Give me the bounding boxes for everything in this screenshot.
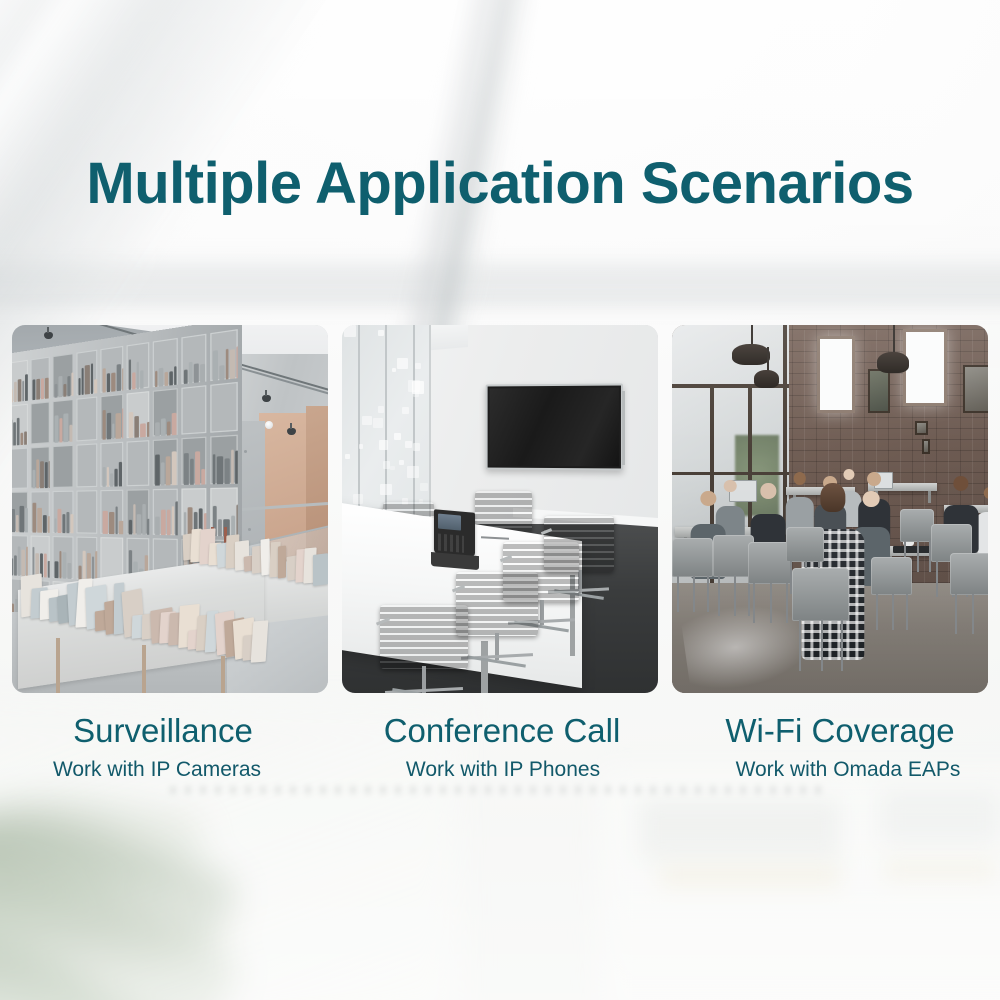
book-spine — [236, 505, 237, 537]
book-spine — [226, 349, 229, 380]
caption-surveillance: Surveillance Work with IP Cameras — [12, 712, 328, 802]
book-spine — [26, 547, 27, 577]
scenario-image-wifi-coverage[interactable] — [672, 325, 988, 693]
bookshelf-cell — [126, 490, 149, 536]
table-leg — [142, 645, 146, 693]
bookshelf-cell — [12, 536, 27, 577]
frosted-glass-square — [359, 444, 364, 449]
book-row — [54, 410, 70, 443]
book-spine — [169, 372, 173, 387]
book-spine — [78, 379, 80, 396]
book-spine — [59, 418, 63, 443]
ip-desk-phone — [434, 509, 475, 557]
book-spine — [114, 469, 117, 488]
book-spine — [19, 507, 23, 533]
wall-mounted-tv — [486, 383, 623, 471]
book-row — [183, 346, 204, 384]
bookshelf-cell — [153, 339, 177, 388]
bookshelf-cell — [12, 448, 27, 489]
book-row — [102, 453, 120, 487]
frosted-glass-square — [373, 418, 383, 428]
book-spine — [43, 554, 46, 578]
frosted-glass-square — [344, 325, 356, 337]
book-spine — [160, 418, 165, 437]
bookshelf-cell — [100, 490, 122, 535]
bookshelf-cell — [52, 354, 72, 399]
book-spine — [86, 553, 90, 581]
book-spine — [142, 505, 145, 536]
person-head — [761, 483, 776, 498]
book-row — [12, 371, 25, 404]
book-spine — [54, 416, 58, 443]
book-row — [32, 502, 48, 534]
book-spine — [45, 378, 49, 399]
phone-keypad — [438, 533, 463, 552]
book-spine — [122, 408, 123, 439]
person-head — [821, 483, 846, 512]
book-spine — [82, 551, 85, 581]
scenario-card-list — [12, 325, 988, 693]
frosted-glass-square — [392, 368, 396, 372]
book-spine — [110, 373, 115, 393]
caption-conference-call: Conference Call Work with IP Phones — [342, 712, 658, 802]
scenario-caption-list: Surveillance Work with IP Cameras Confer… — [12, 712, 988, 802]
book-spine — [59, 551, 61, 579]
book-spine — [190, 459, 194, 486]
book-spine — [119, 462, 122, 487]
frosted-glass-square — [407, 466, 419, 478]
book-spine — [71, 373, 73, 397]
caption-subtitle: Work with IP Cameras — [0, 754, 315, 786]
bookshelf-cell — [181, 437, 207, 485]
caption-title: Surveillance — [5, 712, 321, 751]
book-row — [78, 548, 95, 582]
book-spine — [54, 518, 56, 533]
book-spine — [15, 516, 18, 533]
chair-back — [871, 557, 912, 595]
book-spine — [115, 507, 118, 535]
book-spine — [161, 463, 164, 486]
book-spine — [45, 462, 48, 489]
book-spine — [18, 547, 21, 577]
book-spine — [171, 413, 177, 436]
bookshelf-cell — [52, 537, 72, 580]
book-spine — [42, 515, 46, 533]
book-spine — [165, 457, 170, 486]
book-spine — [128, 360, 131, 390]
bookshelf-cell — [181, 386, 207, 435]
book-spine — [84, 366, 89, 396]
bookshelf-cell — [12, 405, 27, 447]
chair-leg — [936, 561, 938, 598]
book-row — [54, 364, 70, 398]
book-row — [155, 450, 175, 486]
caption-title: Wi-Fi Coverage — [682, 712, 998, 751]
frosted-glass-square — [379, 440, 388, 449]
scenario-image-surveillance[interactable] — [12, 325, 328, 693]
book-spine — [66, 513, 69, 534]
table-leg — [221, 656, 225, 693]
chair-leg — [753, 583, 755, 623]
chair-back — [792, 568, 849, 622]
book-spine — [22, 550, 25, 577]
conference-room-scene — [342, 325, 658, 693]
cafe-metal-chair — [950, 553, 988, 634]
book-spine — [102, 369, 105, 394]
book-spine — [183, 512, 186, 536]
book-spine — [217, 456, 223, 485]
book-spine — [166, 510, 170, 536]
book-spine — [62, 515, 65, 534]
book-spine — [107, 374, 110, 393]
book-row — [128, 403, 147, 439]
book-row — [213, 447, 235, 485]
book-spine — [36, 379, 40, 400]
book-spine — [183, 370, 187, 385]
book-spine — [63, 384, 66, 398]
frosted-glass-square — [402, 407, 409, 414]
book-spine — [25, 374, 27, 402]
bookshelf-cell — [210, 330, 237, 382]
bookshelf-cell — [30, 402, 50, 445]
book-spine — [167, 421, 170, 436]
book-spine — [183, 454, 188, 486]
bookshelf-cell — [76, 537, 97, 581]
bookshelf-cell — [153, 439, 177, 486]
book-spine — [106, 413, 111, 440]
book-spine — [174, 367, 176, 386]
book-spine — [25, 509, 27, 533]
book-spine — [69, 425, 72, 443]
track-spotlight-icon — [44, 332, 53, 339]
frosted-glass-square — [408, 380, 420, 392]
frosted-glass-square — [383, 461, 390, 468]
book-spine — [17, 418, 20, 446]
book-spine — [195, 452, 200, 486]
book-row — [12, 545, 25, 576]
displayed-book — [313, 553, 328, 586]
chair-leg — [841, 619, 843, 671]
person-head — [724, 480, 737, 493]
book-spine — [155, 371, 158, 388]
book-spine — [109, 512, 114, 535]
book-row — [213, 342, 235, 382]
book-spine — [109, 473, 113, 487]
bookshelf-cell — [126, 441, 149, 487]
bookshelf-cell — [210, 383, 237, 434]
book-row — [155, 501, 175, 536]
book-spine — [159, 369, 163, 388]
book-spine — [102, 411, 105, 441]
book-spine — [41, 379, 44, 400]
chair-leg — [821, 619, 823, 671]
book-spine — [81, 368, 83, 395]
track-spotlight-icon — [287, 428, 296, 435]
book-spine — [155, 455, 160, 486]
book-spine — [58, 377, 62, 398]
bookshelf-cell — [126, 343, 149, 391]
person-head — [863, 491, 880, 508]
bookshelf-cell — [30, 492, 50, 534]
book-spine — [175, 502, 177, 536]
chair-leg — [718, 575, 720, 615]
book-row — [54, 547, 70, 580]
book-spine — [202, 470, 206, 486]
bookshelf-cell — [76, 350, 97, 396]
book-row — [102, 406, 120, 441]
book-row — [54, 502, 70, 534]
book-spine — [102, 511, 107, 535]
tv-screen — [490, 387, 619, 466]
book-spine — [171, 452, 176, 486]
book-row — [78, 361, 95, 396]
book-spine — [155, 423, 159, 437]
person-head — [701, 491, 716, 506]
bookshelf-cell — [30, 447, 50, 489]
book-spine — [13, 423, 16, 447]
caption-wifi-coverage: Wi-Fi Coverage Work with Omada EAPs — [672, 712, 988, 802]
book-spine — [94, 379, 97, 394]
phone-screen — [438, 514, 461, 531]
frosted-glass-square — [405, 441, 413, 449]
bookshelf-cell — [153, 489, 177, 536]
book-spine — [224, 458, 229, 484]
book-spine — [218, 365, 224, 381]
frosted-glass-square — [399, 460, 404, 465]
book-spine — [132, 373, 135, 390]
chair-back — [900, 509, 935, 542]
book-spine — [161, 510, 165, 536]
book-spine — [236, 346, 238, 380]
book-spine — [32, 547, 34, 577]
book-spine — [12, 509, 14, 533]
bookshelf-cell — [12, 361, 27, 404]
frosted-glass-square — [397, 358, 408, 369]
book-row — [102, 358, 120, 394]
book-spine — [32, 380, 35, 401]
bookshelf-cell — [30, 357, 50, 401]
bookshelf-cell — [100, 395, 122, 441]
chair-leg — [892, 594, 894, 631]
book-spine — [116, 414, 121, 440]
frosted-glass-square — [420, 483, 428, 491]
chair-back — [786, 527, 824, 561]
book-spine — [112, 423, 115, 439]
frosted-glass-square — [378, 330, 384, 336]
book-spine — [200, 364, 205, 383]
chair-leg — [917, 540, 919, 571]
caption-title: Conference Call — [344, 712, 660, 751]
book-spine — [62, 553, 66, 579]
frosted-glass-square — [413, 443, 421, 451]
book-row — [32, 457, 48, 489]
chair-leg — [906, 594, 908, 631]
book-spine — [231, 450, 234, 484]
bookshelf-cell — [52, 400, 72, 444]
book-spine — [119, 521, 123, 535]
frosted-glass-square — [378, 406, 385, 413]
chair-leg — [955, 594, 957, 634]
book-spine — [54, 384, 56, 398]
frosted-glass-square — [362, 416, 371, 425]
frosted-glass-square — [415, 363, 420, 368]
book-row — [128, 501, 147, 536]
book-row — [12, 502, 25, 533]
book-spine — [63, 413, 67, 442]
book-spine — [70, 514, 73, 533]
caption-subtitle: Work with IP Phones — [345, 754, 661, 786]
track-spotlight-icon — [262, 395, 271, 402]
book-spine — [32, 503, 36, 533]
scenario-image-conference-call[interactable] — [342, 325, 658, 693]
book-spine — [128, 520, 132, 535]
frosted-glass-square — [345, 454, 350, 459]
book-spine — [57, 510, 61, 534]
bookshelf-cell — [52, 446, 72, 489]
chair-leg — [693, 575, 695, 612]
book-spine — [67, 377, 70, 397]
frosted-glass-square — [394, 433, 401, 440]
book-spine — [136, 362, 138, 390]
frosted-glass-square — [380, 484, 391, 495]
book-spine — [140, 370, 144, 389]
bookshelf-cell — [210, 435, 237, 485]
bookshelf-cell — [30, 536, 50, 578]
book-row — [128, 354, 147, 391]
book-spine — [36, 460, 39, 489]
chair-back — [672, 538, 713, 576]
caption-subtitle: Work with Omada EAPs — [690, 754, 1000, 786]
chair-leg — [876, 594, 878, 631]
book-row — [183, 449, 204, 486]
book-spine — [147, 422, 149, 437]
book-spine — [102, 468, 105, 488]
book-spine — [213, 350, 217, 381]
book-spine — [47, 517, 49, 534]
book-spine — [194, 363, 199, 383]
book-spine — [67, 564, 71, 580]
book-spine — [235, 451, 238, 484]
book-spine — [32, 471, 35, 489]
book-spine — [12, 559, 13, 576]
chair-leg — [972, 594, 974, 634]
cafe-metal-chair — [871, 557, 912, 631]
bookshelf-cell — [181, 334, 207, 385]
cafe-metal-chair — [672, 538, 713, 612]
book-spine — [40, 461, 44, 489]
chair-leg — [734, 575, 736, 615]
bookshelf-cell — [153, 389, 177, 437]
chair-back — [950, 553, 988, 595]
book-spine — [20, 433, 22, 446]
bookshelf-cell — [12, 492, 27, 533]
book-spine — [155, 517, 159, 535]
book-row — [12, 414, 25, 446]
bookshelf-cell — [52, 491, 72, 534]
book-spine — [14, 555, 17, 576]
bookshelf-cell — [76, 491, 97, 535]
content-layer: Multiple Application Scenarios — [0, 0, 1000, 1000]
person-head — [867, 472, 881, 486]
book-spine — [121, 369, 122, 392]
conference-chair — [380, 605, 468, 693]
chair-leg — [677, 575, 679, 612]
ceiling-lamp — [265, 421, 273, 429]
chair-leg — [770, 583, 772, 623]
book-spine — [136, 514, 141, 535]
book-spine — [13, 382, 16, 403]
book-spine — [17, 379, 21, 402]
book-spine — [134, 416, 139, 438]
book-spine — [117, 364, 121, 392]
table-leg — [56, 638, 60, 693]
book-spine — [78, 566, 81, 581]
book-spine — [95, 551, 97, 581]
book-spine — [133, 504, 135, 535]
book-row — [102, 501, 120, 535]
book-spine — [146, 520, 149, 536]
book-spine — [90, 364, 93, 395]
book-row — [155, 400, 175, 437]
book-spine — [230, 349, 234, 379]
book-spine — [106, 467, 108, 488]
book-spine — [189, 362, 193, 384]
book-spine — [128, 412, 133, 438]
page-title: Multiple Application Scenarios — [0, 153, 1000, 216]
displayed-book — [278, 545, 286, 578]
book-spine — [164, 372, 168, 387]
tv-wall-mount — [622, 391, 625, 465]
cafe-metal-chair — [792, 568, 849, 671]
person-head — [983, 487, 988, 500]
book-row — [32, 368, 48, 401]
book-spine — [24, 432, 27, 445]
bookshelf-cell — [76, 397, 97, 442]
book-spine — [54, 561, 58, 578]
bookshelf-cell — [76, 444, 97, 488]
book-spine — [22, 381, 24, 402]
library-scene — [12, 325, 328, 693]
book-spine — [172, 507, 175, 536]
bookshelf-cell — [126, 392, 149, 439]
frosted-glass-square — [353, 494, 363, 504]
book-spine — [140, 423, 146, 438]
book-spine — [47, 561, 49, 578]
chair-leg — [799, 619, 801, 671]
book-spine — [37, 508, 41, 534]
bookshelf-cell — [100, 442, 122, 487]
person-head — [953, 476, 968, 491]
chair-leg — [707, 575, 709, 612]
book-row — [155, 350, 175, 388]
bookshelf-cell — [100, 347, 122, 394]
cafe-scene — [672, 325, 988, 693]
book-spine — [213, 455, 216, 485]
frosted-glass-square — [390, 466, 394, 470]
book-spine — [48, 461, 49, 489]
